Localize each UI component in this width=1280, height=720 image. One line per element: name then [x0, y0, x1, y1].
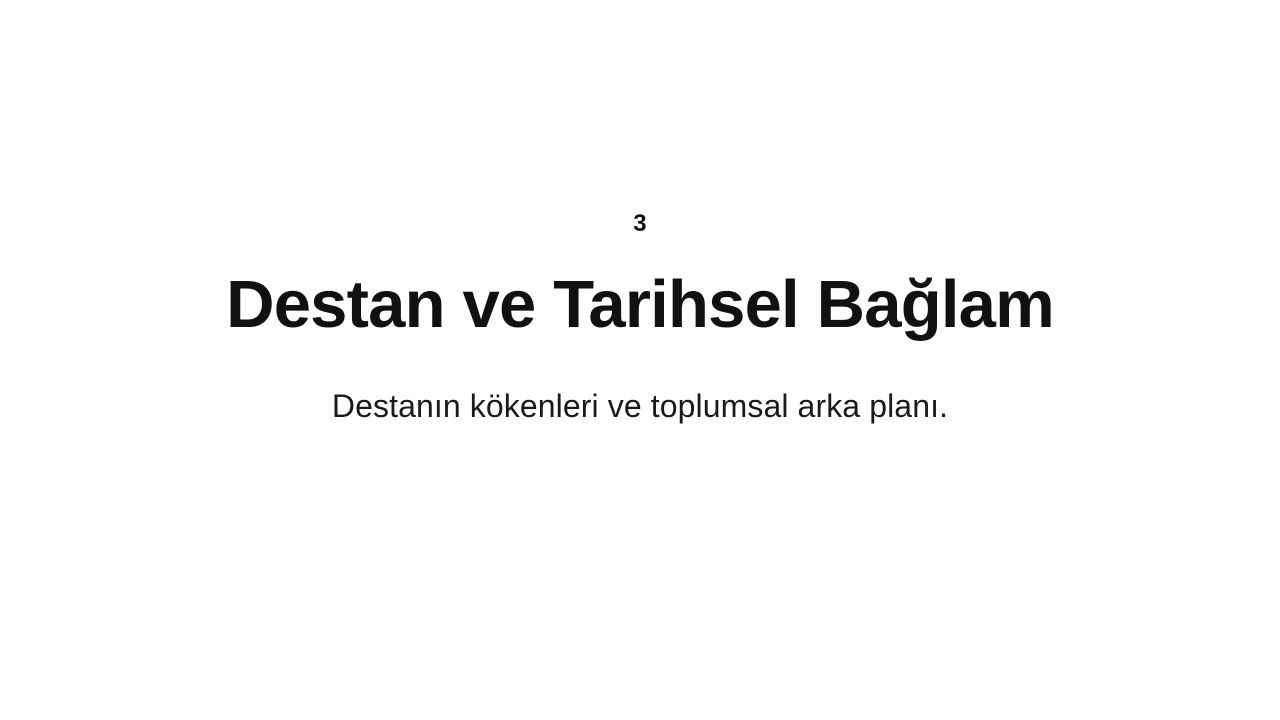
- slide-subtitle: Destanın kökenleri ve toplumsal arka pla…: [332, 384, 948, 428]
- slide-content-block: 3 Destan ve Tarihsel Bağlam Destanın kök…: [0, 208, 1280, 428]
- slide-canvas: 3 Destan ve Tarihsel Bağlam Destanın kök…: [0, 0, 1280, 720]
- page-title: Destan ve Tarihsel Bağlam: [226, 264, 1054, 346]
- section-number: 3: [633, 208, 647, 240]
